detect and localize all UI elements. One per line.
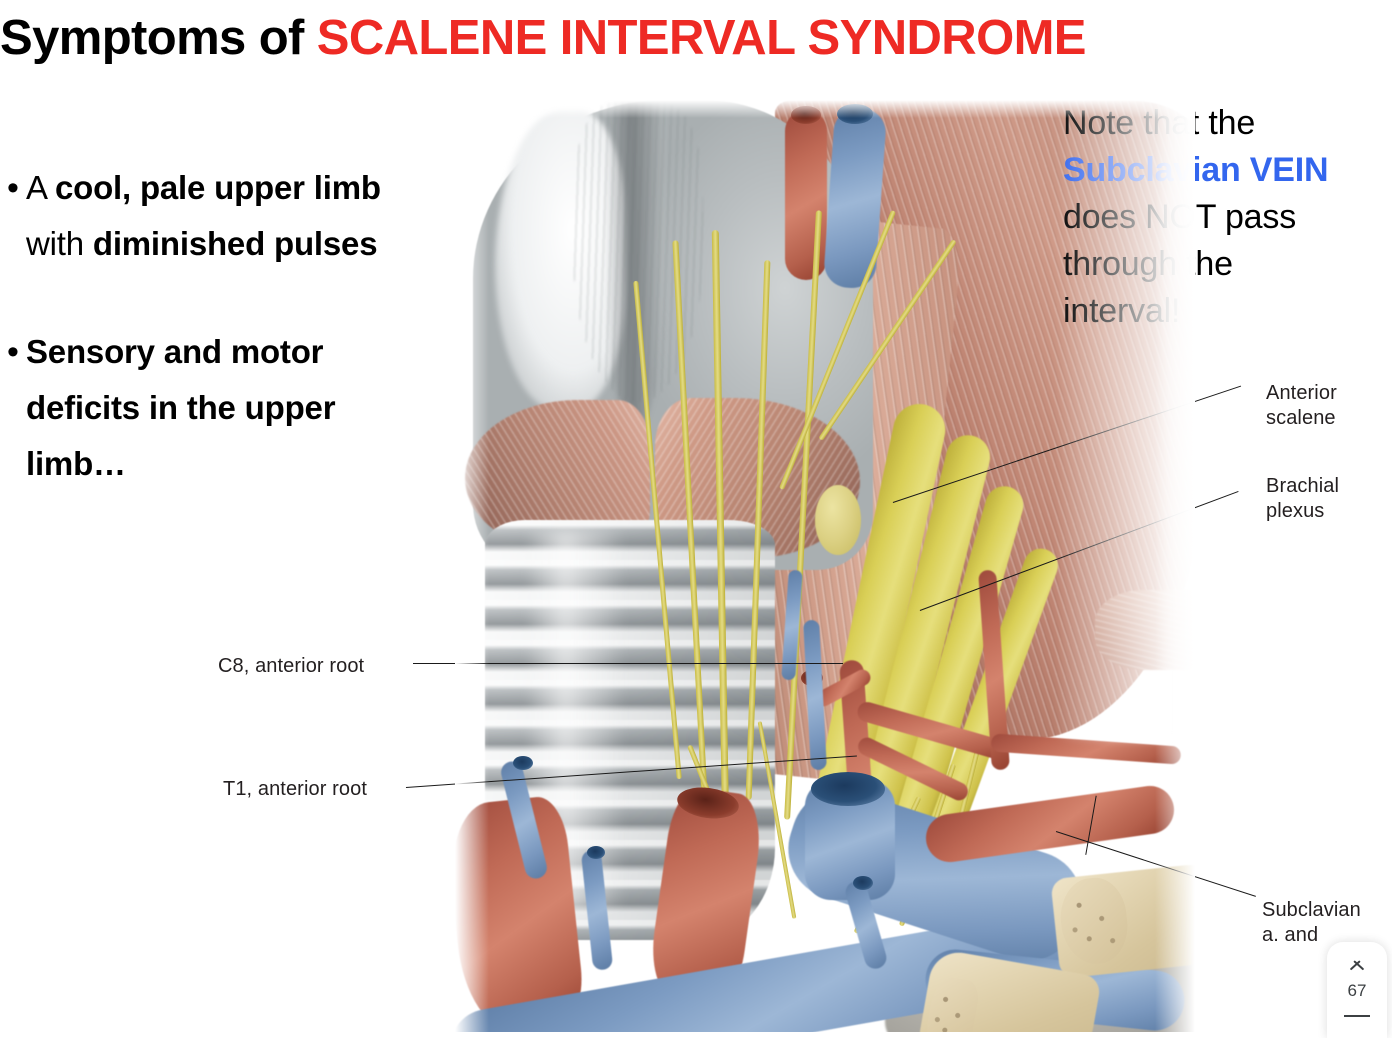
page-navigation-widget[interactable]: 67: [1327, 942, 1387, 1038]
illustration-canvas: [455, 100, 1195, 1032]
bullet-marker-icon: •: [0, 324, 26, 380]
widget-divider: [1344, 1015, 1370, 1017]
page-title: Symptoms of SCALENE INTERVAL SYNDROME: [0, 12, 1392, 66]
list-item: • A cool, pale upper limb with diminishe…: [0, 160, 440, 272]
list-item: • Sensory and motor deficits in the uppe…: [0, 324, 440, 492]
page-number: 67: [1348, 981, 1367, 1001]
chevron-up-icon[interactable]: [1347, 954, 1367, 966]
vein-lumen: [837, 104, 873, 124]
bullet-marker-icon: •: [0, 160, 26, 216]
sympathetic-ganglion: [815, 485, 861, 555]
label-subclavian-artery: Subclavian a. and: [1262, 898, 1361, 948]
vein-lumen: [811, 772, 885, 806]
bullet-text-1: A cool, pale upper limb with diminished …: [26, 160, 440, 272]
common-carotid-artery: [785, 110, 827, 280]
bullet-segment: with: [26, 225, 93, 262]
leader-line-c8: [413, 663, 843, 664]
vein-lumen: [587, 846, 605, 859]
bullet-segment: A: [26, 169, 55, 206]
label-anterior-scalene: Anterior scalene: [1266, 381, 1337, 431]
illustration-edge-fade: [1055, 100, 1195, 740]
page-title-highlight: SCALENE INTERVAL SYNDROME: [317, 11, 1086, 65]
page-title-lead: Symptoms of: [0, 11, 317, 65]
bullet-segment-bold: diminished pulses: [93, 225, 378, 262]
label-t1-anterior-root: T1, anterior root: [223, 777, 367, 802]
bullet-segment-bold: cool, pale upper limb: [55, 169, 381, 206]
anatomy-illustration: [455, 100, 1195, 1032]
label-brachial-plexus: Brachial plexus: [1266, 474, 1339, 524]
vein-lumen: [513, 756, 533, 770]
bullet-text-2: Sensory and motor deficits in the upper …: [26, 324, 440, 492]
artery-lumen: [791, 106, 821, 124]
label-c8-anterior-root: C8, anterior root: [218, 654, 364, 679]
thyroid-notch: [605, 100, 665, 430]
bullet-segment-bold: Sensory and motor deficits in the upper …: [26, 333, 335, 482]
vein-lumen: [853, 876, 873, 890]
symptom-bullet-list: • A cool, pale upper limb with diminishe…: [0, 160, 440, 544]
